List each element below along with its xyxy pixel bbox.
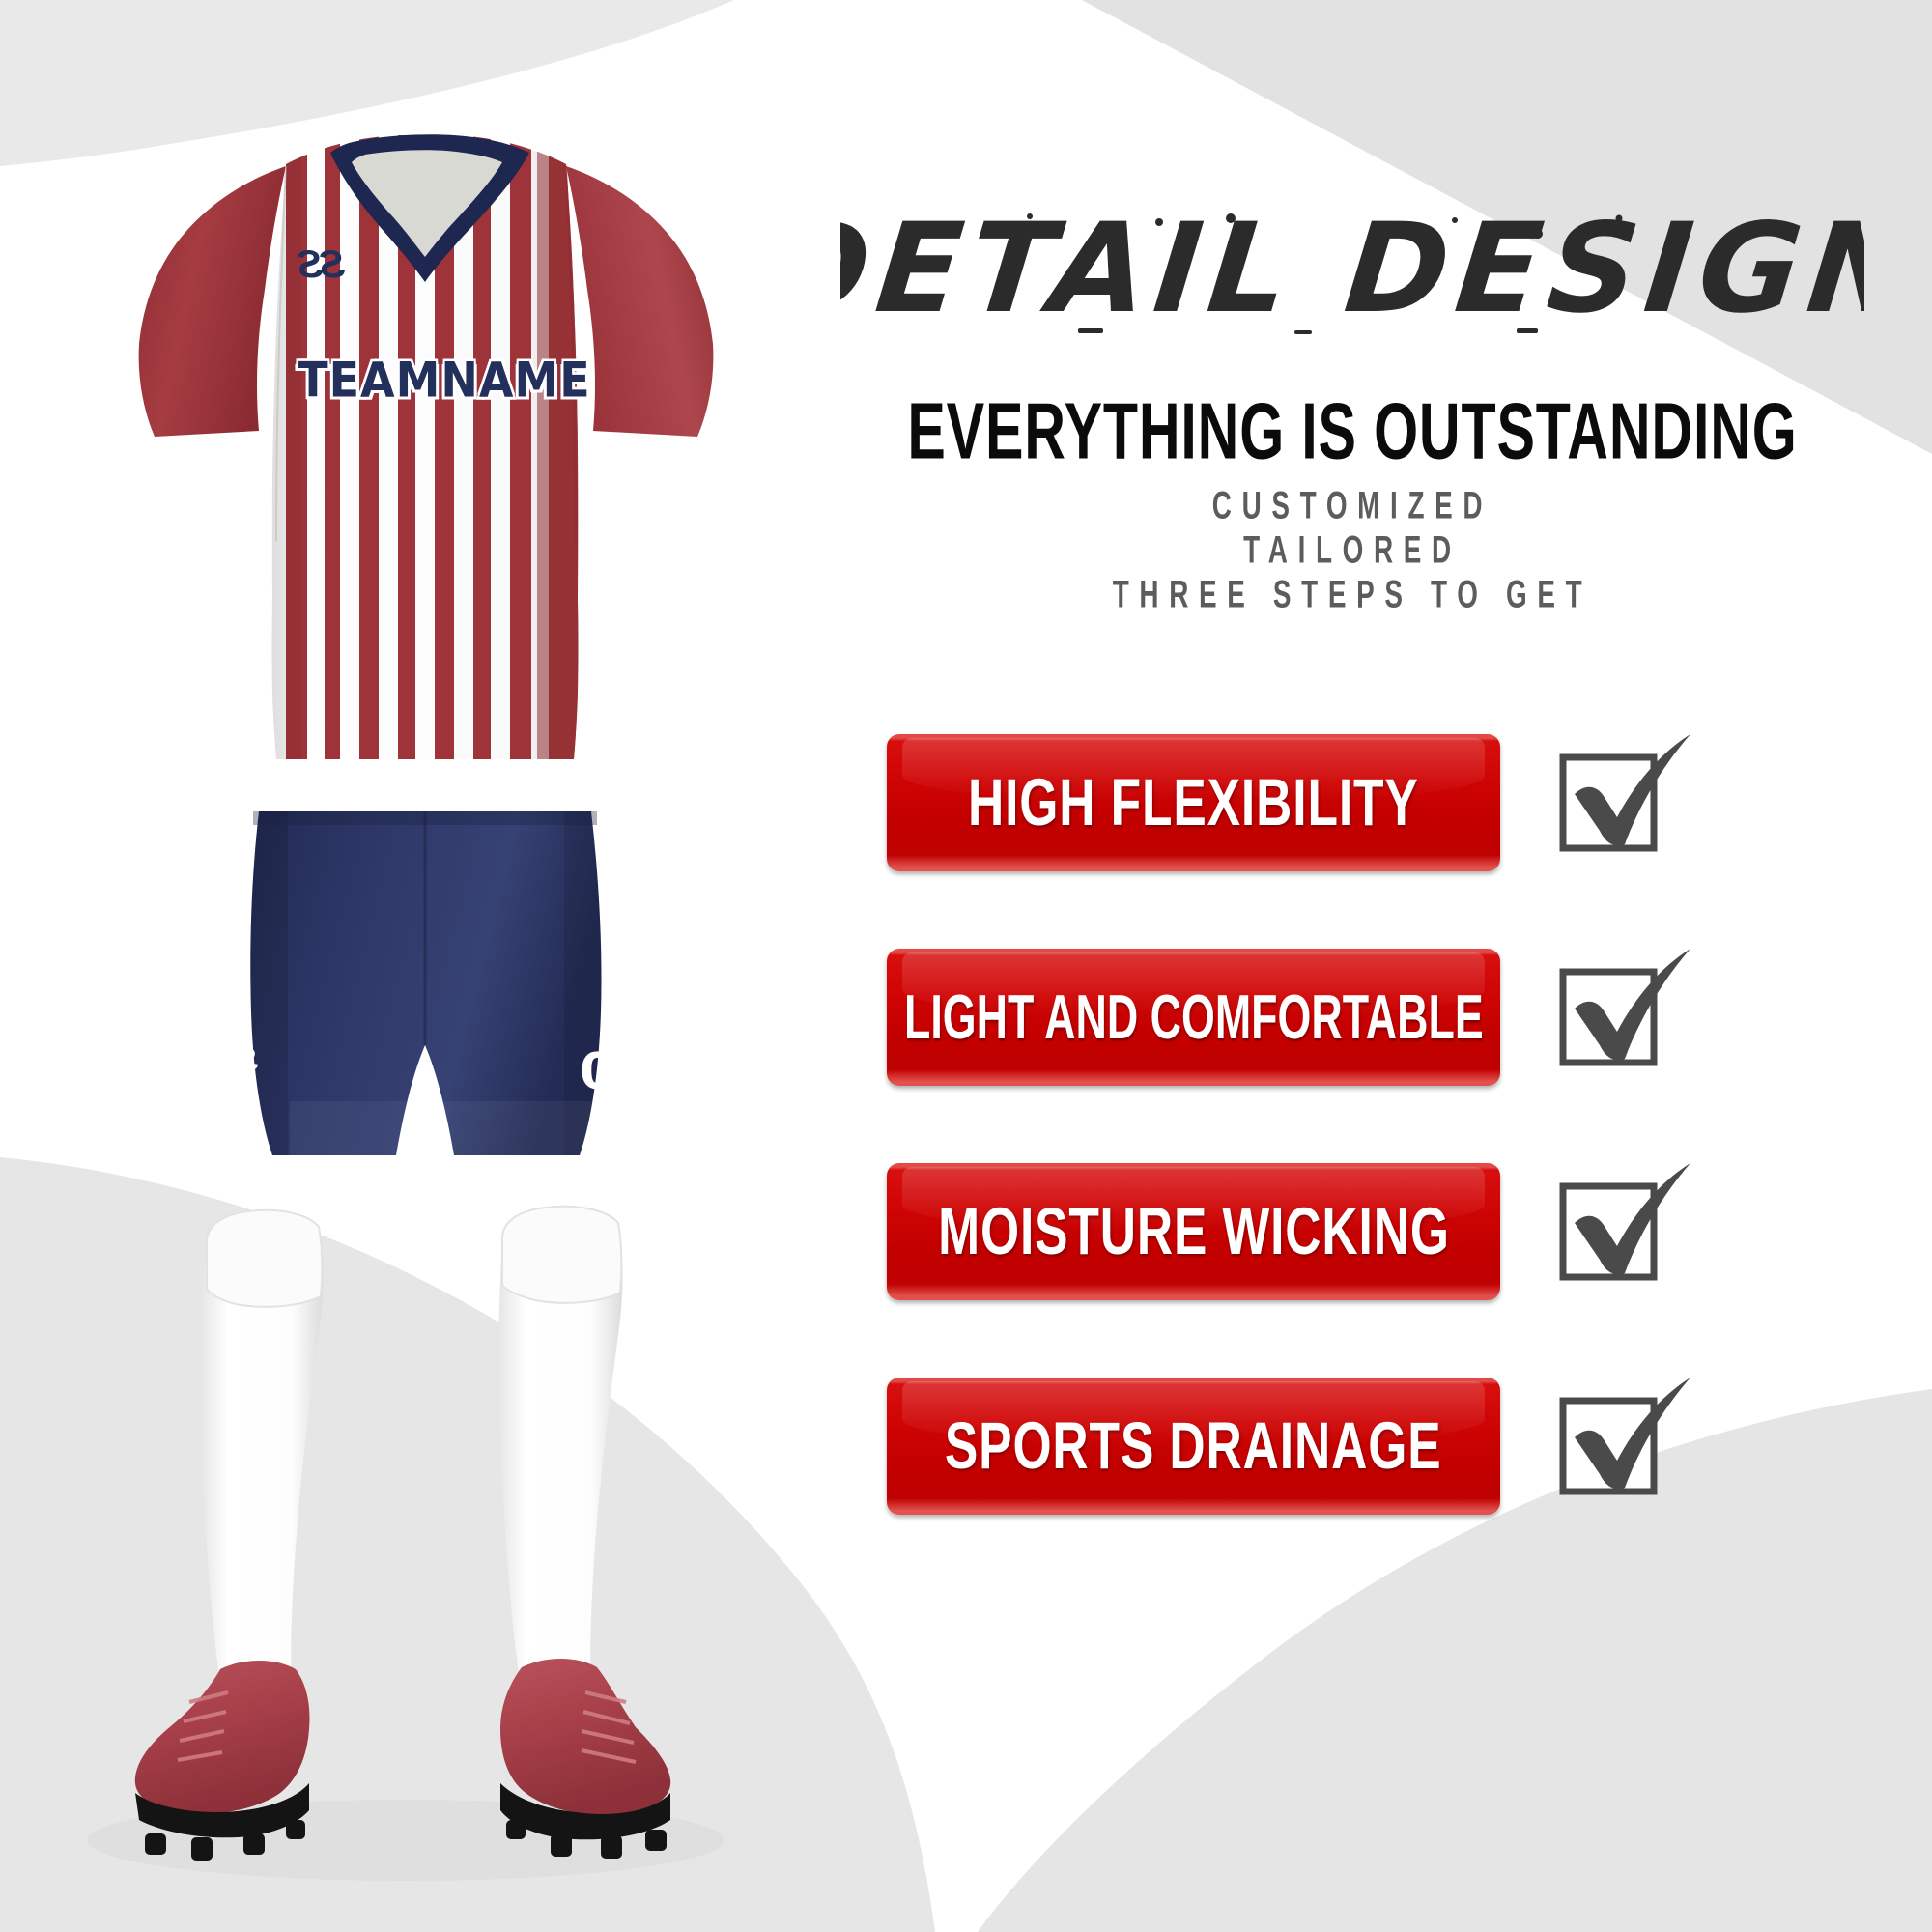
product-detail-page: TEAMNAME SS SS 00 DETAIL DESIGN (0, 0, 1932, 1932)
shorts-waistband (253, 811, 597, 825)
feature-row: HIGH FLEXIBILITY (773, 734, 1932, 949)
feature-badge-high-flexibility[interactable]: HIGH FLEXIBILITY (887, 734, 1500, 871)
checkbox-checked-icon[interactable] (1546, 1157, 1700, 1312)
jersey-sleeve-right (566, 166, 713, 437)
sock-left-cuff (207, 1210, 322, 1307)
jersey-sleeve-left (139, 166, 286, 437)
jersey (139, 126, 714, 782)
feature-row: SPORTS DRAINAGE (773, 1378, 1932, 1592)
page-title: DETAIL DESIGN (773, 184, 1932, 357)
title-brush-svg: DETAIL DESIGN (840, 184, 1864, 353)
feature-row: MOISTURE WICKING (773, 1163, 1932, 1378)
checkbox-checked-icon[interactable] (1546, 728, 1700, 883)
feature-label: HIGH FLEXIBILITY (968, 770, 1419, 836)
feature-badge-moisture-wicking[interactable]: MOISTURE WICKING (887, 1163, 1500, 1300)
feature-list: HIGH FLEXIBILITY LIGHT AND COMFORTABLE (773, 734, 1932, 1592)
sock-right-cuff (502, 1207, 621, 1303)
checkbox-checked-icon[interactable] (1546, 943, 1700, 1097)
content-column: DETAIL DESIGN (773, 0, 1932, 1932)
uniform-kit-svg (0, 0, 840, 1932)
subline-customized: CUSTOMIZED (877, 485, 1828, 528)
shorts (249, 811, 607, 1159)
feature-row: LIGHT AND COMFORTABLE (773, 949, 1932, 1163)
feature-label: SPORTS DRAINAGE (945, 1413, 1442, 1479)
feature-label: MOISTURE WICKING (938, 1199, 1450, 1264)
feature-badge-light-and-comfortable[interactable]: LIGHT AND COMFORTABLE (887, 949, 1500, 1086)
feature-badge-sports-drainage[interactable]: SPORTS DRAINAGE (887, 1378, 1500, 1515)
cleat-left (135, 1661, 310, 1813)
cleats (135, 1659, 670, 1861)
product-image: TEAMNAME SS SS 00 (0, 0, 840, 1932)
subline-three-steps: THREE STEPS TO GET (877, 574, 1828, 617)
cleat-right (500, 1659, 670, 1815)
subline-tailored: TAILORED (877, 529, 1828, 573)
socks (201, 1207, 623, 1683)
headline: EVERYTHING IS OUTSTANDING (889, 391, 1816, 471)
feature-label: LIGHT AND COMFORTABLE (904, 986, 1484, 1049)
title-text: DETAIL DESIGN (840, 197, 1864, 341)
checkbox-checked-icon[interactable] (1546, 1372, 1700, 1526)
